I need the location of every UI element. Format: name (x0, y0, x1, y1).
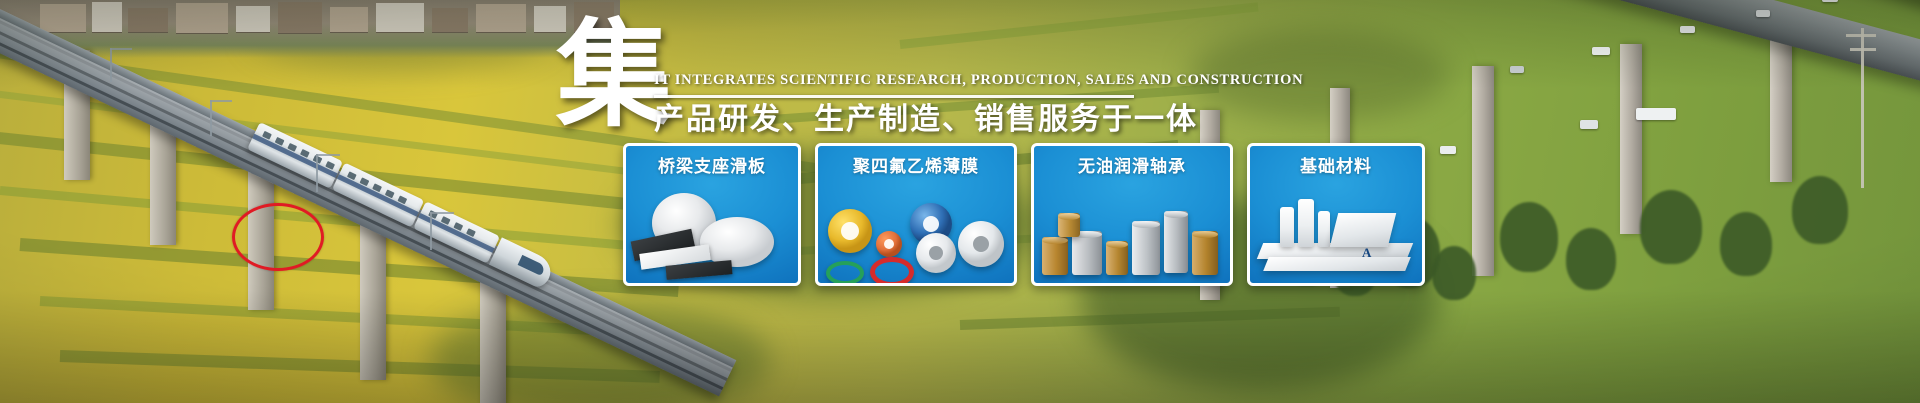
utility-pole (1861, 28, 1864, 188)
base-materials-icon: A (1250, 187, 1422, 283)
product-card-title: 聚四氟乙烯薄膜 (818, 156, 1014, 178)
slogan-english-line: IT INTEGRATES SCIENTIFIC RESEARCH, PRODU… (654, 72, 1303, 89)
bridge-bearing-slide-plates-icon (626, 187, 798, 283)
red-highlight-ellipse (232, 203, 324, 271)
oil-free-bearings-icon (1034, 187, 1230, 283)
product-card-title: 无油润滑轴承 (1034, 156, 1230, 178)
ptfe-film-rolls-icon (818, 187, 1014, 283)
hero-banner: 集 IT INTEGRATES SCIENTIFIC RESEARCH, PRO… (0, 0, 1920, 403)
product-card-list: 桥梁支座滑板 聚四氟乙烯薄膜 (623, 143, 1425, 286)
slogan-divider (654, 95, 1134, 98)
product-card-title: 桥梁支座滑板 (626, 156, 798, 178)
product-card-base-material[interactable]: 基础材料 A (1247, 143, 1425, 286)
slogan-block: 集 IT INTEGRATES SCIENTIFIC RESEARCH, PRO… (556, 16, 1156, 136)
watermark-letter: A (1362, 245, 1371, 261)
product-card-ptfe-film[interactable]: 聚四氟乙烯薄膜 (815, 143, 1017, 286)
product-card-bridge-bearing-slide-plate[interactable]: 桥梁支座滑板 (623, 143, 801, 286)
product-card-title: 基础材料 (1250, 156, 1422, 178)
slogan-chinese-line: 产品研发、生产制造、销售服务于一体 (654, 101, 1198, 139)
product-card-oil-free-bearing[interactable]: 无油润滑轴承 (1031, 143, 1233, 286)
